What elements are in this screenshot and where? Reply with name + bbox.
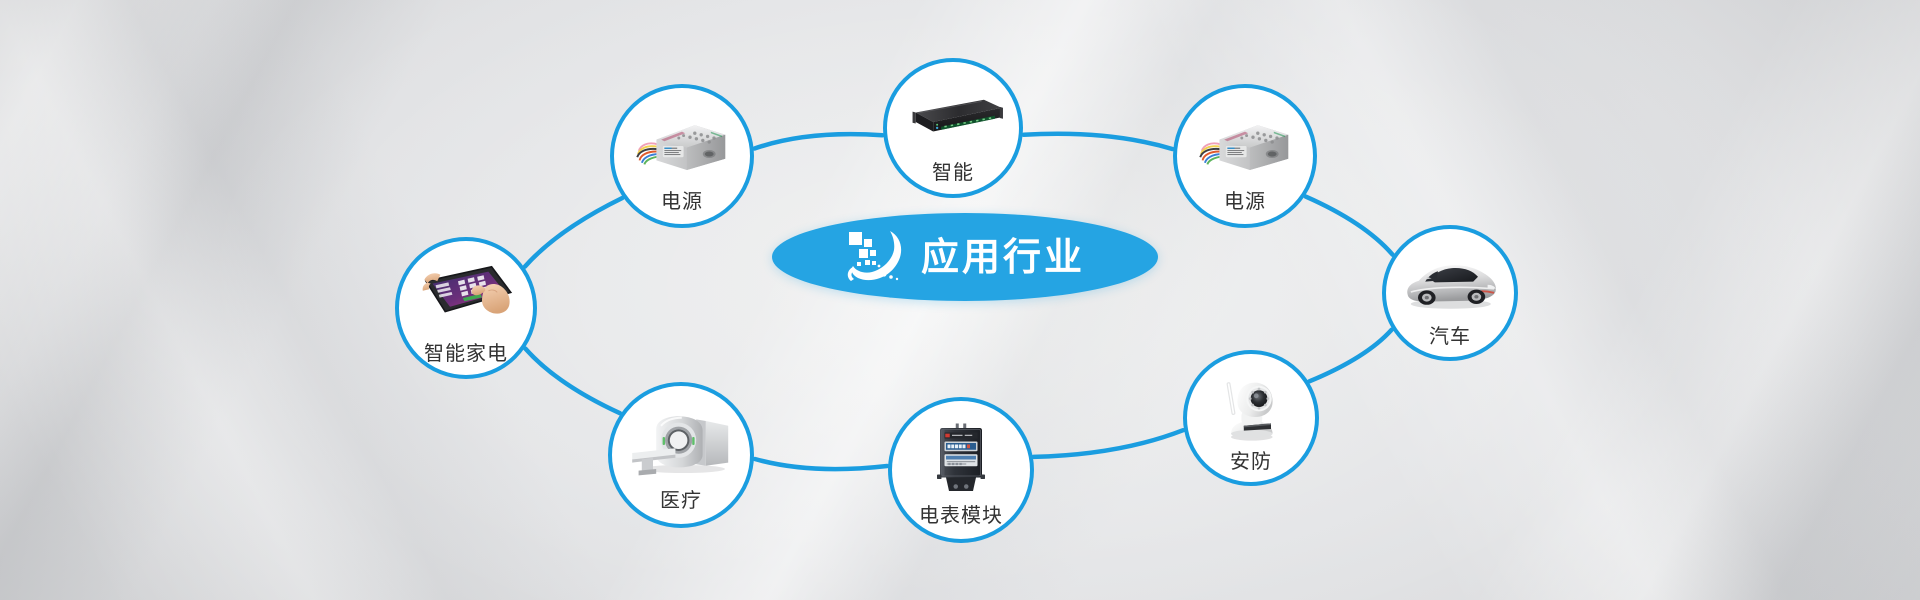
connector-meter-to-medical [755,459,887,469]
connector-medical-to-smart-home [525,349,620,414]
node-label-power-right: 电源 [1224,191,1266,211]
node-label-power-left: 电源 [661,191,703,211]
node-art-sports-car-icon [1386,248,1514,319]
rack-server-icon [901,95,1005,141]
center-badge: 应用行业 [772,213,1158,301]
node-art-atx-power-supply-icon [614,108,750,184]
node-power-left[interactable]: 电源 [610,84,754,228]
ip-camera-icon [1215,373,1287,445]
node-smart[interactable]: 智能 [883,58,1023,198]
node-label-medical: 医疗 [660,490,702,510]
node-meter[interactable]: 电表模块 [888,397,1034,543]
atx-power-supply-icon [634,114,730,178]
node-security[interactable]: 安防 [1183,350,1319,486]
connector-smart-home-to-power-left [525,198,622,267]
node-label-smart-home: 智能家电 [424,343,508,363]
connector-power-left-to-smart [755,134,883,148]
center-badge-title: 应用行业 [921,238,1085,276]
electric-meter-icon [931,422,991,497]
node-art-rack-server-icon [887,82,1019,156]
node-automotive[interactable]: 汽车 [1382,225,1518,361]
node-label-smart: 智能 [932,162,974,182]
node-power-right[interactable]: 电源 [1173,84,1317,228]
node-art-atx-power-supply-icon [1177,108,1313,184]
node-art-electric-meter-icon [892,421,1030,498]
application-industries-banner: 电源 [0,0,1920,600]
brand-swoosh-pixels-logo [845,228,907,286]
connector-automotive-to-security [1309,330,1391,382]
atx-power-supply-icon [1197,114,1293,178]
sports-car-icon [1398,256,1502,312]
ct-scanner-icon [629,413,733,477]
node-medical[interactable]: 医疗 [608,382,754,528]
tablet-touch-icon [418,262,514,334]
node-label-automotive: 汽车 [1429,326,1471,346]
node-art-ct-scanner-icon [612,406,750,483]
node-label-meter: 电表模块 [919,505,1003,525]
node-smart-home[interactable]: 智能家电 [395,237,537,379]
connector-smart-to-power-right [1024,134,1173,149]
connector-security-to-meter [1034,430,1183,457]
node-label-security: 安防 [1230,451,1272,471]
node-art-ip-camera-icon [1187,373,1315,444]
connector-power-right-to-automotive [1306,197,1393,255]
node-art-tablet-touch-icon [399,261,533,336]
